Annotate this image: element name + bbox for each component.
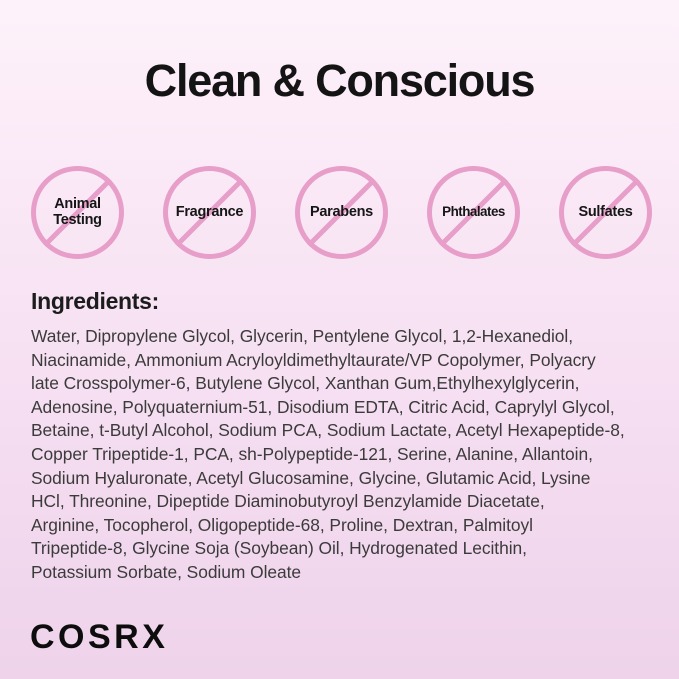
ingredients-line: HCl, Threonine, Dipeptide Diaminobutyroy… xyxy=(31,490,649,514)
ingredients-line: late Crosspolymer-6, Butylene Glycol, Xa… xyxy=(31,372,649,396)
ingredients-line: Sodium Hyaluronate, Acetyl Glucosamine, … xyxy=(31,467,649,491)
brand-logo: COSRX xyxy=(30,620,168,654)
badge-label: Animal Testing xyxy=(52,197,102,228)
ingredients-line: Tripeptide-8, Glycine Soja (Soybean) Oil… xyxy=(31,537,649,561)
badge-sulfates: Sulfates xyxy=(554,161,657,264)
badge-fragrance: Fragrance xyxy=(158,161,261,264)
ingredients-line: Copper Tripeptide-1, PCA, sh-Polypeptide… xyxy=(31,443,649,467)
ingredients-line: Arginine, Tocopherol, Oligopeptide-68, P… xyxy=(31,514,649,538)
ingredients-line: Potassium Sorbate, Sodium Oleate xyxy=(31,561,649,585)
ingredients-list: Water, Dipropylene Glycol, Glycerin, Pen… xyxy=(31,325,649,585)
badge-label: Fragrance xyxy=(175,205,244,221)
free-from-badge-row: Animal Testing Fragrance Parabens Phthal… xyxy=(26,161,657,264)
product-info-page: Clean & Conscious Animal Testing Fragran… xyxy=(0,0,679,679)
ingredients-heading: Ingredients: xyxy=(31,288,159,315)
ingredients-line: Water, Dipropylene Glycol, Glycerin, Pen… xyxy=(31,325,649,349)
badge-label: Phthalates xyxy=(441,205,506,219)
badge-phthalates: Phthalates xyxy=(422,161,525,264)
ingredients-line: Niacinamide, Ammonium Acryloyldimethylta… xyxy=(31,349,649,373)
ingredients-line: Adenosine, Polyquaternium-51, Disodium E… xyxy=(31,396,649,420)
badge-label: Parabens xyxy=(309,205,374,221)
badge-animal-testing: Animal Testing xyxy=(26,161,129,264)
badge-label: Sulfates xyxy=(577,205,633,221)
badge-parabens: Parabens xyxy=(290,161,393,264)
ingredients-line: Betaine, t-Butyl Alcohol, Sodium PCA, So… xyxy=(31,419,649,443)
page-title: Clean & Conscious xyxy=(0,58,679,103)
